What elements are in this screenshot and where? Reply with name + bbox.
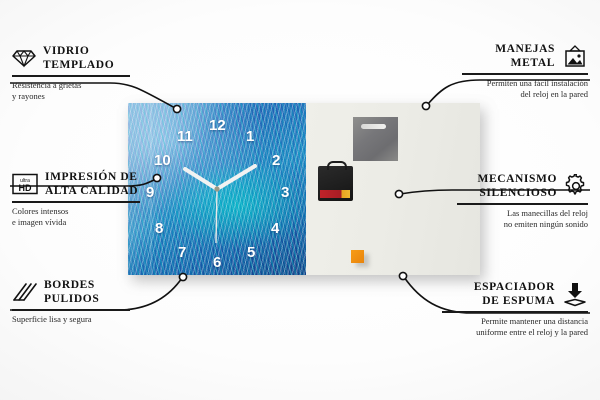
- callout-rule: [462, 73, 588, 75]
- callout-rule: [12, 309, 130, 311]
- callout-description: Permiten una fácil instalacióndel reloj …: [460, 78, 588, 100]
- callout-espaciador-de-espuma: ESPACIADORDE ESPUMA Permite mantener una…: [440, 280, 588, 338]
- clock-mechanism-housing: [318, 166, 353, 201]
- callout-rule: [457, 203, 588, 205]
- callout-title: VIDRIOTEMPLADO: [43, 44, 114, 72]
- clock-face-panel: 12 1 2 3 4 5 6 7 8 9 10 11: [128, 103, 306, 275]
- callout-title: MECANISMOSILENCIOSO: [477, 172, 557, 200]
- callout-description: Superficie lisa y segura: [12, 314, 132, 325]
- hanger-keyhole-slot: [361, 124, 386, 129]
- diamond-icon: [12, 49, 36, 68]
- mechanism-hook: [327, 161, 347, 170]
- gear-icon: [564, 174, 588, 198]
- callout-header: VIDRIOTEMPLADO: [12, 44, 132, 72]
- callout-impresion-alta-calidad: ultra HD IMPRESIÓN DEALTA CALIDAD Colore…: [12, 170, 142, 228]
- callout-description: Permite mantener una distanciauniforme e…: [440, 316, 588, 338]
- callout-description: Las manecillas del relojno emiten ningún…: [455, 208, 588, 230]
- clock-back-panel: [306, 103, 480, 275]
- callout-rule: [12, 201, 140, 203]
- callout-header: ultra HD IMPRESIÓN DEALTA CALIDAD: [12, 170, 142, 198]
- battery: [320, 190, 350, 198]
- product-image: 12 1 2 3 4 5 6 7 8 9 10 11: [128, 103, 480, 275]
- callout-manejas-metal: MANEJASMETAL Permiten una fácil instalac…: [460, 42, 588, 100]
- clock-hands: [128, 103, 306, 275]
- callout-title: IMPRESIÓN DEALTA CALIDAD: [45, 170, 138, 198]
- foam-spacer-arrow-icon: [562, 282, 588, 307]
- callout-title: MANEJASMETAL: [495, 42, 555, 70]
- callout-description: Resistencia a grietasy rayones: [12, 80, 132, 102]
- callout-rule: [12, 75, 130, 77]
- callout-description: Colores intensose imagen vívida: [12, 206, 142, 228]
- svg-text:HD: HD: [19, 183, 32, 193]
- callout-mecanismo-silencioso: MECANISMOSILENCIOSO Las manecillas del r…: [455, 172, 588, 230]
- foam-spacer: [351, 250, 364, 263]
- polished-edges-icon: [12, 282, 37, 302]
- wall-hanger-frame-icon: [562, 45, 588, 68]
- ultra-hd-icon: ultra HD: [12, 173, 38, 195]
- callout-title: BORDESPULIDOS: [44, 278, 99, 306]
- callout-title: ESPACIADORDE ESPUMA: [474, 280, 555, 308]
- callout-vidrio-templado: VIDRIOTEMPLADO Resistencia a grietasy ra…: [12, 44, 132, 102]
- infographic-canvas: 12 1 2 3 4 5 6 7 8 9 10 11: [0, 0, 600, 400]
- callout-header: BORDESPULIDOS: [12, 278, 132, 306]
- callout-header: MANEJASMETAL: [460, 42, 588, 70]
- callout-bordes-pulidos: BORDESPULIDOS Superficie lisa y segura: [12, 278, 132, 325]
- callout-rule: [442, 311, 588, 313]
- callout-header: MECANISMOSILENCIOSO: [455, 172, 588, 200]
- callout-header: ESPACIADORDE ESPUMA: [440, 280, 588, 308]
- metal-hanger-plate: [353, 117, 398, 161]
